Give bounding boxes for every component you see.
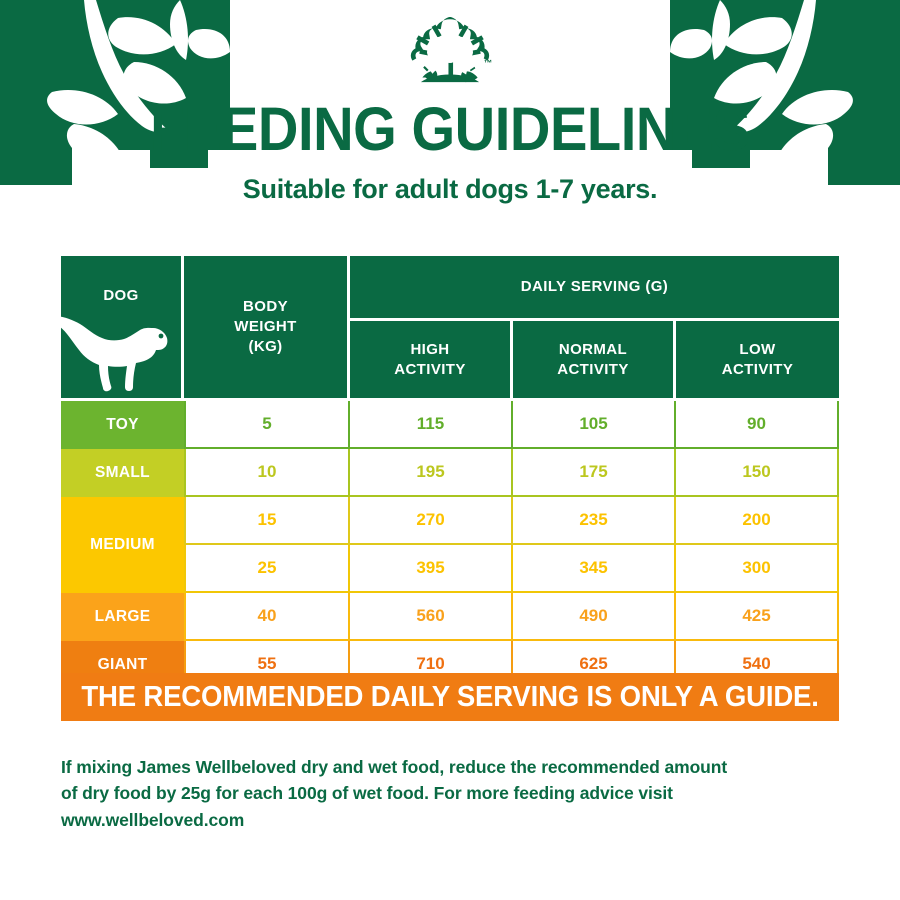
page-header: ™ FEEDING GUIDELINES Suitable for adult … [0,0,900,205]
header-body-weight-line3: (KG) [248,338,282,355]
cell-low-medium-2: 300 [676,545,839,593]
cell-high-medium-1: 270 [350,497,513,545]
size-label-toy: TOY [61,401,184,449]
header-daily-serving: DAILY SERVING (G) [350,256,839,321]
cell-normal-medium-1: 235 [513,497,676,545]
footer-note: If mixing James Wellbeloved dry and wet … [61,754,839,833]
guide-banner-text: THE RECOMMENDED DAILY SERVING IS ONLY A … [81,681,818,714]
cell-normal-toy: 105 [513,401,676,449]
cell-low-toy: 90 [676,401,839,449]
header-body-weight-line1: BODY [243,298,288,315]
table-row: MEDIUM 15 270 235 200 [61,497,839,545]
page-title: FEEDING GUIDELINES [36,98,864,160]
header-normal-activity-line2: ACTIVITY [557,361,629,378]
header-low-activity: LOW ACTIVITY [676,321,839,401]
size-label-large: LARGE [61,593,184,641]
size-label-small: SMALL [61,449,184,497]
cell-weight-small: 10 [184,449,350,497]
svg-text:™: ™ [484,57,492,67]
cell-weight-toy: 5 [184,401,350,449]
table-row: SMALL 10 195 175 150 [61,449,839,497]
header-body-weight-line2: WEIGHT [234,318,296,335]
guide-banner: THE RECOMMENDED DAILY SERVING IS ONLY A … [61,673,839,721]
cell-low-medium-1: 200 [676,497,839,545]
footer-line-2: of dry food by 25g for each 100g of wet … [61,780,839,806]
tree-paw-logo-icon: ™ [404,14,496,92]
cell-high-toy: 115 [350,401,513,449]
cell-low-large: 425 [676,593,839,641]
cell-high-medium-2: 395 [350,545,513,593]
table-row: TOY 5 115 105 90 [61,401,839,449]
cell-high-large: 560 [350,593,513,641]
feeding-table-container: DOG BODY WEIGHT (KG) DAILY SERVING (G) H… [61,256,839,689]
header-normal-activity: NORMAL ACTIVITY [513,321,676,401]
header-dog: DOG [61,256,184,401]
header-normal-activity-line1: NORMAL [559,341,627,358]
header-high-activity-line1: HIGH [410,341,449,358]
size-label-medium: MEDIUM [61,497,184,593]
header-body-weight: BODY WEIGHT (KG) [184,256,350,401]
cell-normal-medium-2: 345 [513,545,676,593]
footer-line-1: If mixing James Wellbeloved dry and wet … [61,754,839,780]
header-high-activity: HIGH ACTIVITY [350,321,513,401]
table-header-row-top: DOG BODY WEIGHT (KG) DAILY SERVING (G) [61,256,839,321]
cell-high-small: 195 [350,449,513,497]
header-low-activity-line1: LOW [739,341,775,358]
cell-weight-medium-2: 25 [184,545,350,593]
cell-weight-large: 40 [184,593,350,641]
cell-weight-medium-1: 15 [184,497,350,545]
header-dog-label: DOG [61,256,181,306]
cell-normal-small: 175 [513,449,676,497]
feeding-guidelines-table: DOG BODY WEIGHT (KG) DAILY SERVING (G) H… [61,256,839,689]
footer-website: www.wellbeloved.com [61,807,839,833]
cell-low-small: 150 [676,449,839,497]
page-subtitle: Suitable for adult dogs 1-7 years. [0,174,900,205]
header-low-activity-line2: ACTIVITY [722,361,794,378]
table-row: LARGE 40 560 490 425 [61,593,839,641]
cell-normal-large: 490 [513,593,676,641]
header-high-activity-line2: ACTIVITY [394,361,466,378]
dog-silhouette-icon [57,314,175,392]
